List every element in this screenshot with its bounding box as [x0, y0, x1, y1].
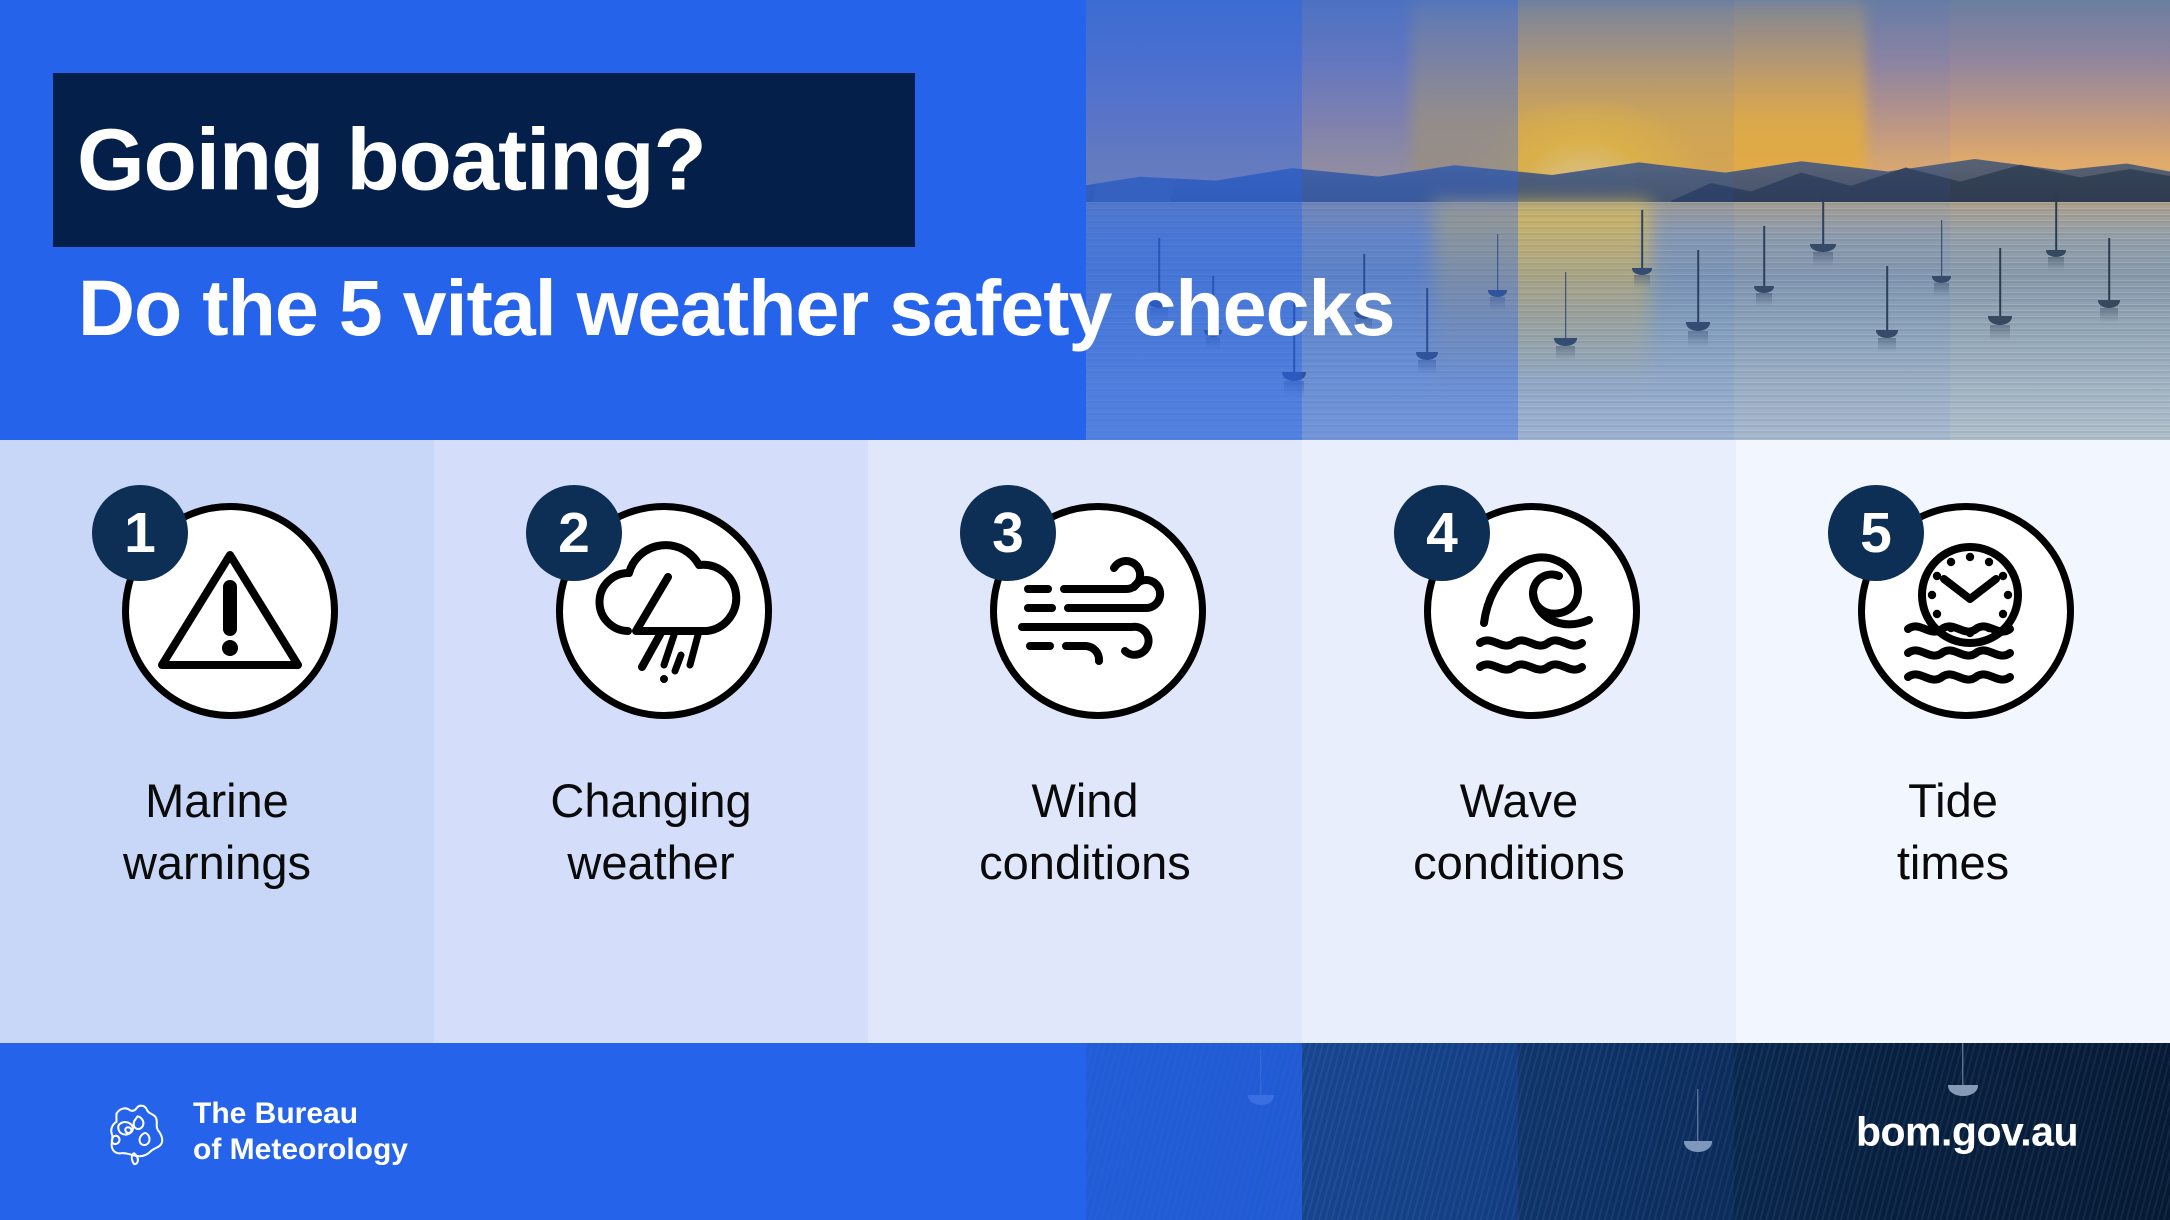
header-banner: Going boating? Do the 5 vital weather sa…: [0, 0, 2170, 440]
check-label-4: Wave conditions: [1302, 770, 1736, 894]
footer-overlay-band: [1518, 1043, 1734, 1220]
hero-overlay-band: [1086, 0, 1302, 440]
bom-logo-line1: The Bureau: [193, 1096, 408, 1131]
check-card-1[interactable]: 1 Marine warnings: [0, 440, 434, 1043]
hero-overlay-band: [1302, 0, 1518, 440]
check-label-line2: warnings: [0, 832, 434, 894]
check-label-line1: Changing: [434, 770, 868, 832]
hero-overlay-band: [1734, 0, 1950, 440]
bom-logo-line2: of Meteorology: [193, 1132, 408, 1167]
footer-overlay-band: [1086, 1043, 1302, 1220]
check-label-3: Wind conditions: [868, 770, 1302, 894]
website-url[interactable]: bom.gov.au: [1856, 1108, 2078, 1155]
page-title: Going boating?: [77, 117, 706, 204]
step-number-badge: 1: [92, 485, 188, 581]
icon-wrap: 4: [1394, 485, 1644, 735]
icon-wrap: 5: [1828, 485, 2078, 735]
check-card-2[interactable]: 2 Changing weather: [434, 440, 868, 1043]
footer-bar: The Bureau of Meteorology bom.gov.au: [0, 1043, 2170, 1220]
check-label-line1: Wave: [1302, 770, 1736, 832]
check-label-2: Changing weather: [434, 770, 868, 894]
check-card-4[interactable]: 4 Wave conditions: [1302, 440, 1736, 1043]
step-number-badge: 4: [1394, 485, 1490, 581]
bom-logo[interactable]: The Bureau of Meteorology: [97, 1096, 408, 1168]
page-subtitle: Do the 5 vital weather safety checks: [78, 268, 1394, 347]
check-label-line2: conditions: [1302, 832, 1736, 894]
check-label-line2: conditions: [868, 832, 1302, 894]
icon-wrap: 1: [92, 485, 342, 735]
check-label-line1: Wind: [868, 770, 1302, 832]
icon-wrap: 3: [960, 485, 1210, 735]
footer-overlay-band: [1302, 1043, 1518, 1220]
icon-wrap: 2: [526, 485, 776, 735]
bom-logo-text: The Bureau of Meteorology: [193, 1096, 408, 1167]
poster-root: Going boating? Do the 5 vital weather sa…: [0, 0, 2170, 1220]
step-number-badge: 5: [1828, 485, 1924, 581]
hero-overlay-band: [1950, 0, 2170, 440]
check-card-3[interactable]: 3 Wind conditions: [868, 440, 1302, 1043]
check-label-line1: Tide: [1736, 770, 2170, 832]
check-card-5[interactable]: 5 Tide times: [1736, 440, 2170, 1043]
step-number-badge: 2: [526, 485, 622, 581]
check-label-line2: times: [1736, 832, 2170, 894]
check-label-line1: Marine: [0, 770, 434, 832]
check-label-line2: weather: [434, 832, 868, 894]
checks-strip: 1 Marine warnings 2: [0, 440, 2170, 1043]
hero-photo: [1086, 0, 2170, 440]
step-number-badge: 3: [960, 485, 1056, 581]
title-box: Going boating?: [53, 73, 915, 247]
check-label-5: Tide times: [1736, 770, 2170, 894]
check-label-1: Marine warnings: [0, 770, 434, 894]
australia-map-icon: [97, 1096, 171, 1168]
hero-overlay-band: [1518, 0, 1734, 440]
